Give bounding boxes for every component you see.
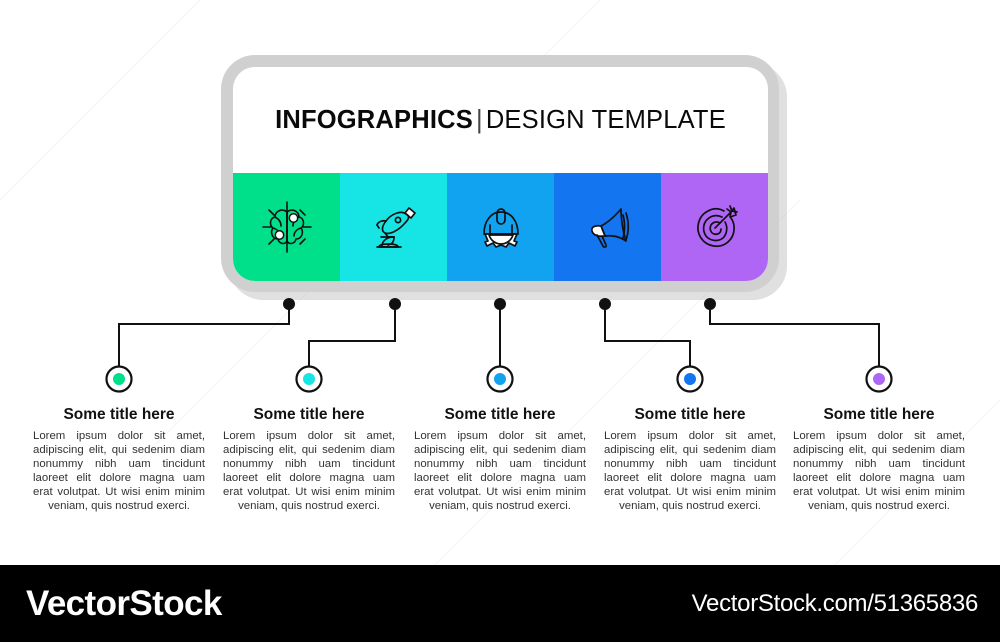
- vectorstock-url: VectorStock.com/51365836: [692, 590, 978, 618]
- title-bold: INFOGRAPHICS: [275, 106, 473, 134]
- column-title: Some title here: [789, 406, 969, 424]
- marker-dot-5: [873, 373, 885, 385]
- title-light: DESIGN TEMPLATE: [486, 106, 726, 134]
- card-body: INFOGRAPHICS|DESIGN TEMPLATE: [233, 67, 768, 281]
- band-segment-5[interactable]: [661, 173, 768, 281]
- column-3: Some title here Lorem ipsum dolor sit am…: [410, 406, 590, 514]
- columns-area: Some title here Lorem ipsum dolor sit am…: [0, 406, 1000, 536]
- column-title: Some title here: [29, 406, 209, 424]
- hardhat-gear-icon: [472, 198, 530, 256]
- icon-band: [233, 173, 768, 281]
- step-markers: [107, 367, 892, 392]
- column-body: Lorem ipsum dolor sit amet, adipiscing e…: [29, 429, 209, 514]
- column-1: Some title here Lorem ipsum dolor sit am…: [29, 406, 209, 514]
- title-area: INFOGRAPHICS|DESIGN TEMPLATE: [233, 67, 768, 173]
- band-segment-4[interactable]: [554, 173, 661, 281]
- column-body: Lorem ipsum dolor sit amet, adipiscing e…: [600, 429, 780, 514]
- vectorstock-logo: VectorStock: [26, 584, 222, 624]
- band-segment-1[interactable]: [233, 173, 340, 281]
- column-2: Some title here Lorem ipsum dolor sit am…: [219, 406, 399, 514]
- brain-icon: [258, 198, 316, 256]
- footer-bar: VectorStock VectorStock.com/51365836: [0, 565, 1000, 642]
- title-separator: |: [473, 106, 486, 134]
- microscope-icon: [365, 198, 423, 256]
- column-title: Some title here: [600, 406, 780, 424]
- target-arrow-icon: [686, 198, 744, 256]
- column-4: Some title here Lorem ipsum dolor sit am…: [600, 406, 780, 514]
- column-5: Some title here Lorem ipsum dolor sit am…: [789, 406, 969, 514]
- band-segment-3[interactable]: [447, 173, 554, 281]
- marker-dot-3: [494, 373, 506, 385]
- column-body: Lorem ipsum dolor sit amet, adipiscing e…: [219, 429, 399, 514]
- column-title: Some title here: [219, 406, 399, 424]
- page-title: INFOGRAPHICS|DESIGN TEMPLATE: [275, 106, 726, 135]
- column-body: Lorem ipsum dolor sit amet, adipiscing e…: [789, 429, 969, 514]
- band-segment-2[interactable]: [340, 173, 447, 281]
- infographic-canvas: INFOGRAPHICS|DESIGN TEMPLATE: [0, 0, 1000, 642]
- column-body: Lorem ipsum dolor sit amet, adipiscing e…: [410, 429, 590, 514]
- marker-dot-4: [684, 373, 696, 385]
- megaphone-icon: [579, 198, 637, 256]
- marker-dot-2: [303, 373, 315, 385]
- column-title: Some title here: [410, 406, 590, 424]
- marker-dot-1: [113, 373, 125, 385]
